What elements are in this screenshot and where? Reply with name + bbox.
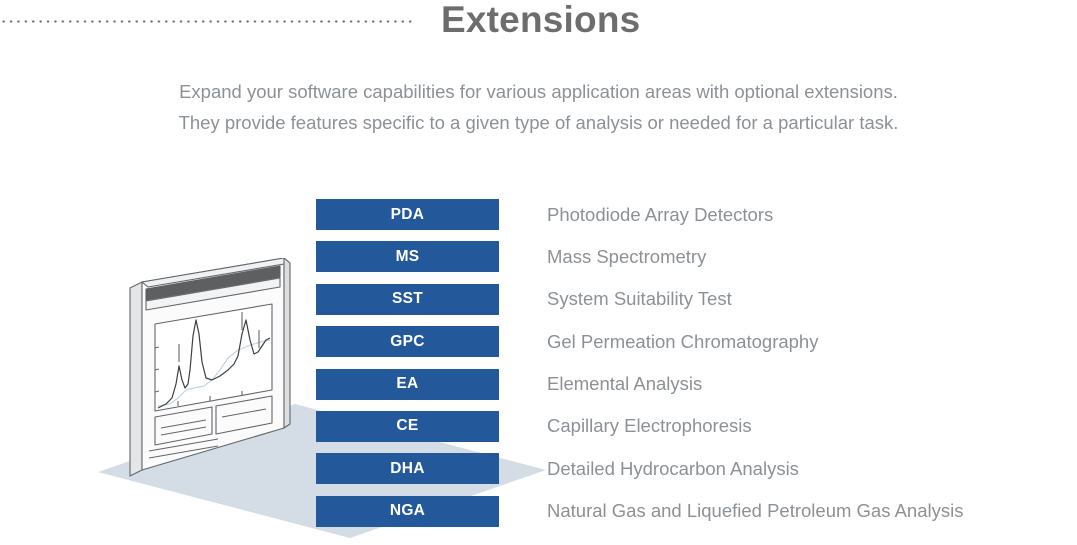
extension-badge-pda[interactable]: PDA [316,199,499,230]
extension-row-nga[interactable]: NGA Natural Gas and Liquefied Petroleum … [316,496,1056,527]
extension-row-sst[interactable]: SST System Suitability Test [316,284,1056,315]
content-area: PDA Photodiode Array Detectors MS Mass S… [0,0,1077,545]
isometric-monitor-illustration [120,258,310,483]
extension-row-ms[interactable]: MS Mass Spectrometry [316,241,1056,272]
extension-label-ms: Mass Spectrometry [547,241,706,272]
extension-row-gpc[interactable]: GPC Gel Permeation Chromatography [316,326,1056,357]
extension-label-ea: Elemental Analysis [547,369,702,400]
extension-badge-ce[interactable]: CE [316,411,499,442]
extension-label-pda: Photodiode Array Detectors [547,199,773,230]
extension-badge-ea[interactable]: EA [316,369,499,400]
extension-label-ce: Capillary Electrophoresis [547,411,752,442]
extension-badge-gpc[interactable]: GPC [316,326,499,357]
extension-badge-ms[interactable]: MS [316,241,499,272]
extension-row-pda[interactable]: PDA Photodiode Array Detectors [316,199,1056,230]
extension-label-sst: System Suitability Test [547,284,732,315]
extension-row-ea[interactable]: EA Elemental Analysis [316,369,1056,400]
extension-label-dha: Detailed Hydrocarbon Analysis [547,453,799,484]
extension-badge-sst[interactable]: SST [316,284,499,315]
extension-badge-nga[interactable]: NGA [316,496,499,527]
extension-row-dha[interactable]: DHA Detailed Hydrocarbon Analysis [316,453,1056,484]
extension-label-nga: Natural Gas and Liquefied Petroleum Gas … [547,496,963,527]
extensions-list: PDA Photodiode Array Detectors MS Mass S… [316,199,1056,538]
extension-label-gpc: Gel Permeation Chromatography [547,326,818,357]
extension-badge-dha[interactable]: DHA [316,453,499,484]
extension-row-ce[interactable]: CE Capillary Electrophoresis [316,411,1056,442]
